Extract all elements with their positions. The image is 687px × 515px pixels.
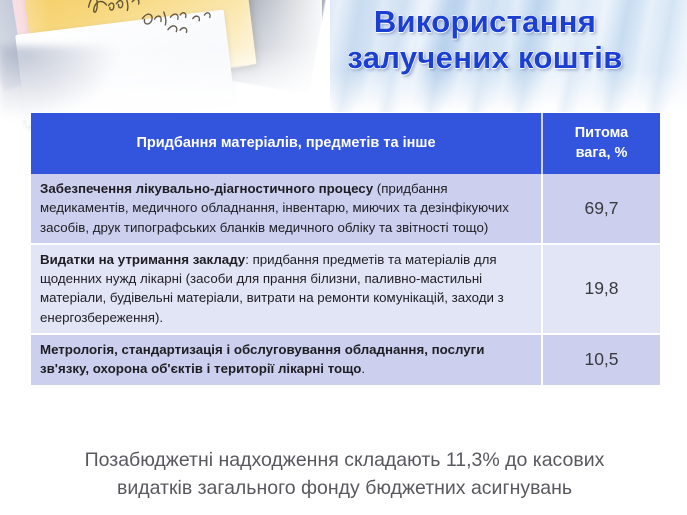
- table-header-share: Питома вага, %: [542, 113, 660, 174]
- table-header-row: Придбання матеріалів, предметів та інше …: [31, 113, 660, 174]
- footer-note-line-1: Позабюджетні надходження складають 11,3%…: [22, 446, 667, 474]
- footer-note-line-2: видатків загального фонду бюджетних асиг…: [22, 474, 667, 502]
- expenses-table: Придбання матеріалів, предметів та інше …: [31, 113, 660, 385]
- table-cell-value: 69,7: [542, 174, 660, 244]
- left-haze: [0, 46, 120, 120]
- table-header-category: Придбання матеріалів, предметів та інше: [31, 113, 542, 174]
- handwritten-script-scribble: [81, 0, 248, 56]
- slide-title-line-2: залучених коштів: [285, 40, 685, 76]
- table-cell-category: Видатки на утримання закладу: придбання …: [31, 244, 542, 334]
- slide-title: Використання залучених коштів: [285, 4, 685, 76]
- footer-note: Позабюджетні надходження складають 11,3%…: [22, 446, 667, 502]
- table-cell-category-bold: Забезпечення лікувально-діагностичного п…: [40, 181, 373, 196]
- table-row: Метрологія, стандартизація і обслуговува…: [31, 334, 660, 385]
- paper-white: [15, 10, 235, 127]
- table-cell-category-bold: Видатки на утримання закладу: [40, 252, 245, 267]
- paper-grey: [0, 0, 118, 91]
- notebook-papers-and-pen-photo: [0, 0, 310, 116]
- expenses-table-wrapper: Придбання матеріалів, предметів та інше …: [31, 113, 660, 385]
- table-cell-value: 19,8: [542, 244, 660, 334]
- table-cell-category-rest: .: [361, 361, 365, 376]
- table-cell-category-bold: Метрологія, стандартизація і обслуговува…: [40, 342, 484, 376]
- table-cell-category: Метрологія, стандартизація і обслуговува…: [31, 334, 542, 385]
- slide-title-line-1: Використання: [285, 4, 685, 40]
- slide: Використання залучених коштів Придбання …: [0, 0, 687, 515]
- table-row: Забезпечення лікувально-діагностичного п…: [31, 174, 660, 244]
- paper-pink: [11, 0, 251, 101]
- photo-fade-overlay: [0, 0, 322, 120]
- table-cell-category: Забезпечення лікувально-діагностичного п…: [31, 174, 542, 244]
- table-cell-value: 10,5: [542, 334, 660, 385]
- table-header-share-line-1: Питома: [575, 125, 629, 141]
- table-header-share-line-2: вага, %: [576, 145, 628, 161]
- paper-yellow: [22, 0, 257, 91]
- table-row: Видатки на утримання закладу: придбання …: [31, 244, 660, 334]
